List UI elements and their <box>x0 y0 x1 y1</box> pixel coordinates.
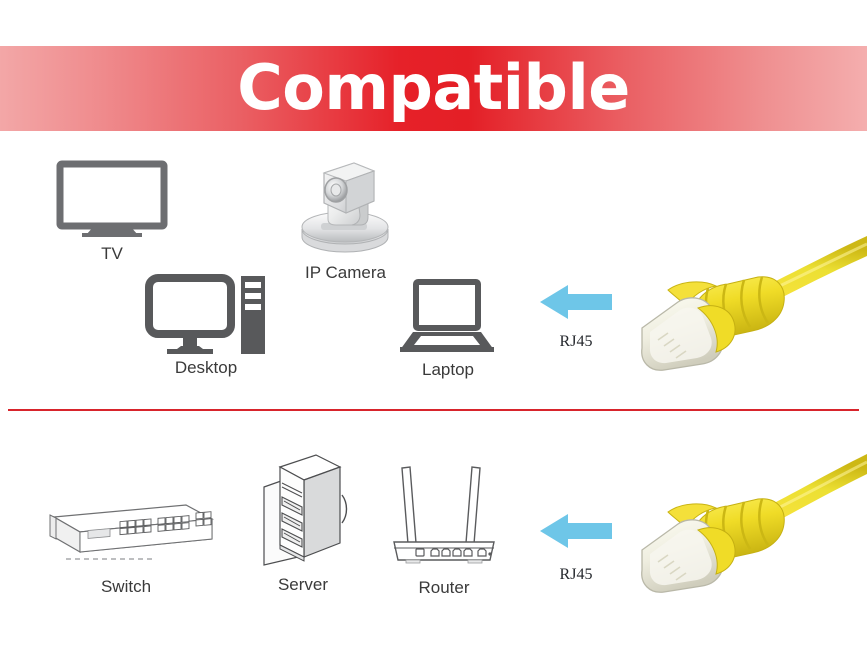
header-banner: Compatible <box>0 46 867 131</box>
device-server: Server <box>258 453 348 603</box>
device-laptop: Laptop <box>400 278 496 382</box>
connector-rj45-top: RJ45 <box>538 281 618 351</box>
arrow-left-icon <box>538 510 614 552</box>
tv-icon <box>52 160 172 240</box>
device-ip-camera: IP Camera <box>288 157 403 287</box>
section-divider <box>8 409 859 411</box>
device-switch: Switch <box>36 495 216 605</box>
device-label-tv: TV <box>52 244 172 264</box>
rj45-label-bottom: RJ45 <box>538 566 614 584</box>
compatibility-infographic: Compatible TV <box>0 0 867 650</box>
device-label-server: Server <box>258 575 348 595</box>
desktop-icon <box>145 272 267 354</box>
router-icon <box>390 458 498 570</box>
laptop-icon <box>400 278 496 356</box>
device-label-ip-camera: IP Camera <box>288 263 403 283</box>
connector-rj45-bottom: RJ45 <box>538 510 618 580</box>
switch-icon <box>36 495 216 570</box>
rj45-yellow-cable-top <box>634 228 867 378</box>
rj45-yellow-cable-bottom <box>634 440 867 600</box>
page-title: Compatible <box>0 46 867 131</box>
device-tv: TV <box>52 160 172 260</box>
device-router: Router <box>390 458 498 603</box>
device-label-router: Router <box>390 578 498 598</box>
rj45-label-top: RJ45 <box>538 333 614 351</box>
server-rack-icon <box>258 453 348 571</box>
arrow-left-icon <box>538 281 614 323</box>
device-label-laptop: Laptop <box>400 360 496 380</box>
ip-camera-icon <box>288 157 403 257</box>
device-label-switch: Switch <box>36 577 216 597</box>
device-label-desktop: Desktop <box>145 358 267 378</box>
device-desktop: Desktop <box>145 272 267 382</box>
